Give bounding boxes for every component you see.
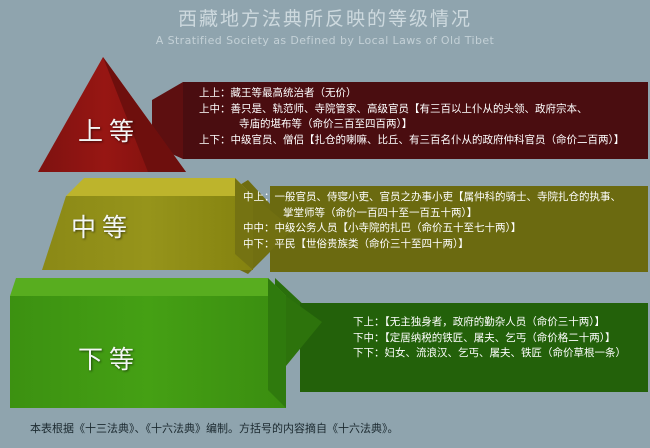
detail-row: 上中：善只是、轨范师、寺院管家、高级官员【有三百以上仆从的头领、政府宗本、: [199, 102, 624, 118]
detail-row: 中上：一般官员、侍寝小吏、官员之办事小吏【属仲科的骑士、寺院扎仓的执事、: [243, 190, 621, 206]
tier-middle-topface: [66, 178, 253, 196]
tier-label-middle: 中等: [71, 208, 133, 244]
detail-row: 上下：中级官员、僧侣【扎仓的喇嘛、比丘、有三百名仆从的政府仲科官员（命价二百两）…: [199, 133, 624, 149]
detail-row: 中中：中级公务人员【小寺院的扎巴（命价五十至七十两）】: [243, 221, 621, 237]
detail-row: 下下：妇女、流浪汉、乞丐、屠夫、铁匠（命价草根一条）: [353, 346, 626, 362]
tier-bottom-topface: [10, 278, 286, 296]
detail-row: 下中：【定居纳税的铁匠、屠夫、乞丐（命价格二十两）】: [353, 331, 626, 347]
tier-label-bottom: 下等: [78, 340, 140, 376]
stratified-society-pyramid-chart: 西藏地方法典所反映的等级情况 A Stratified Society as D…: [0, 0, 650, 448]
tier-bottom-front: [10, 296, 286, 408]
detail-row: 中下：平民【世俗贵族类（命价三十至四十两）】: [243, 237, 621, 253]
detail-row: 掌堂师等（命价一百四十至一百五十两）】: [243, 206, 621, 222]
tier-label-top: 上等: [78, 112, 140, 148]
detail-row: 下上：【无主独身者，政府的勤杂人员（命价三十两）】: [353, 315, 626, 331]
detail-row: 寺庙的堪布等（命价三百至四百两）】: [199, 117, 624, 133]
footnote: 本表根据《十三法典》、《十六法典》编制。方括号的内容摘自《十六法典》。: [30, 420, 399, 436]
detail-row: 上上：藏王等最高统治者（无价）: [199, 86, 624, 102]
tier-detail-middle: 中上：一般官员、侍寝小吏、官员之办事小吏【属仲科的骑士、寺院扎仓的执事、 掌堂师…: [243, 190, 621, 252]
tier-detail-bottom: 下上：【无主独身者，政府的勤杂人员（命价三十两）】 下中：【定居纳税的铁匠、屠夫…: [353, 315, 626, 362]
tier-detail-top: 上上：藏王等最高统治者（无价） 上中：善只是、轨范师、寺院管家、高级官员【有三百…: [199, 86, 624, 148]
tier-bottom-side: [268, 278, 286, 408]
